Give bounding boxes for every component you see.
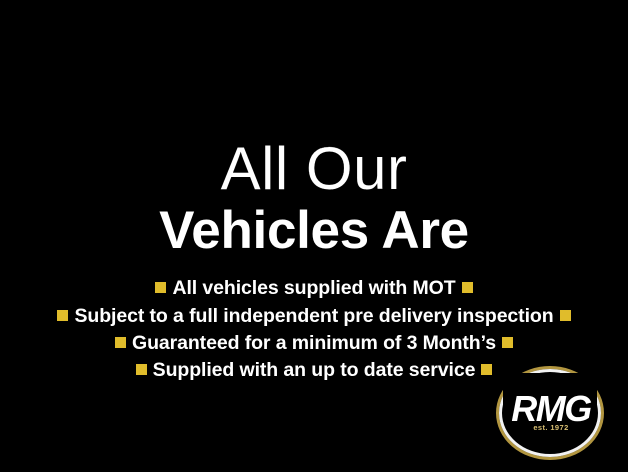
square-bullet-icon: [136, 364, 147, 375]
logo-wordmark: RMG: [489, 391, 613, 427]
square-bullet-icon: [115, 337, 126, 348]
list-item-label: Subject to a full independent pre delive…: [74, 304, 553, 329]
list-item-label: Guaranteed for a minimum of 3 Month’s: [132, 331, 496, 356]
list-item-label: All vehicles supplied with MOT: [172, 276, 455, 301]
list-item: All vehicles supplied with MOT: [0, 276, 628, 301]
headline-line-2: Vehicles Are: [0, 202, 628, 260]
headline-line-1: All Our: [0, 138, 628, 200]
list-item: Subject to a full independent pre delive…: [0, 303, 628, 328]
square-bullet-icon: [57, 310, 68, 321]
square-bullet-icon: [502, 337, 513, 348]
logo-established-text: est. 1972: [489, 423, 613, 432]
rmg-logo: RMG est. 1972: [489, 373, 613, 461]
square-bullet-icon: [462, 282, 473, 293]
list-item-label: Supplied with an up to date service: [153, 358, 476, 383]
list-item: Guaranteed for a minimum of 3 Month’s: [0, 331, 628, 356]
square-bullet-icon: [155, 282, 166, 293]
page-title: All Our Vehicles Are: [0, 138, 628, 260]
promo-poster: All Our Vehicles Are All vehicles suppli…: [0, 0, 628, 472]
square-bullet-icon: [560, 310, 571, 321]
